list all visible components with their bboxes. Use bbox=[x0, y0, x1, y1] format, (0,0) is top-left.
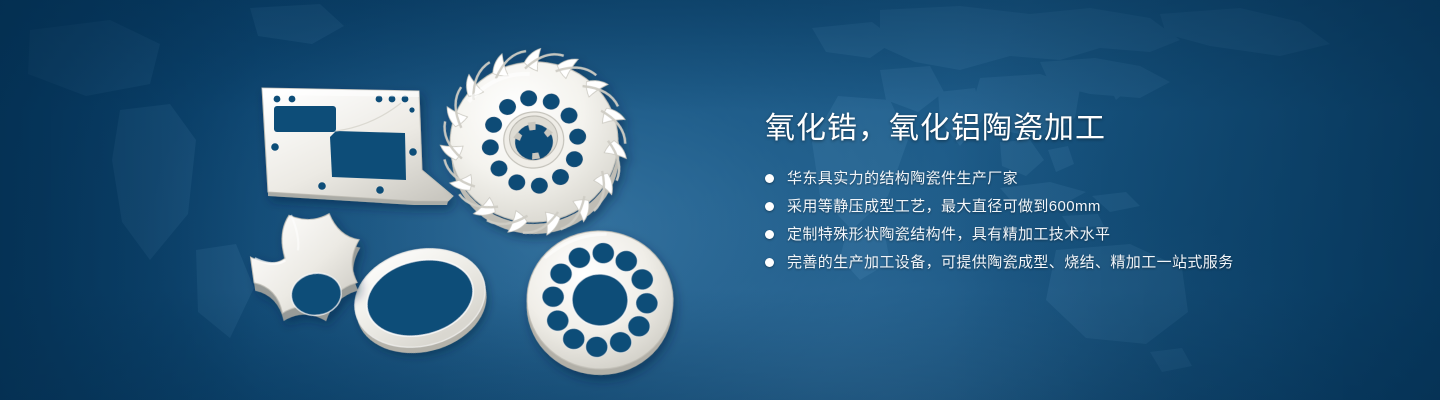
list-item-label: 采用等静压成型工艺，最大直径可做到600mm bbox=[787, 197, 1101, 216]
bullet-dot-icon bbox=[765, 230, 774, 239]
feature-list: 华东具实力的结构陶瓷件生产厂家 采用等静压成型工艺，最大直径可做到600mm 定… bbox=[765, 169, 1385, 272]
bullet-dot-icon bbox=[765, 174, 774, 183]
list-item: 华东具实力的结构陶瓷件生产厂家 bbox=[765, 169, 1385, 188]
banner-text-block: 氧化锆，氧化铝陶瓷加工 华东具实力的结构陶瓷件生产厂家 采用等静压成型工艺，最大… bbox=[765, 112, 1385, 281]
promo-banner: 氧化锆，氧化铝陶瓷加工 华东具实力的结构陶瓷件生产厂家 采用等静压成型工艺，最大… bbox=[0, 0, 1440, 400]
bullet-dot-icon bbox=[765, 258, 774, 267]
list-item: 完善的生产加工设备，可提供陶瓷成型、烧结、精加工一站式服务 bbox=[765, 253, 1385, 272]
list-item-label: 完善的生产加工设备，可提供陶瓷成型、烧结、精加工一站式服务 bbox=[787, 253, 1234, 272]
bullet-dot-icon bbox=[765, 202, 774, 211]
list-item: 采用等静压成型工艺，最大直径可做到600mm bbox=[765, 197, 1385, 216]
list-item-label: 华东具实力的结构陶瓷件生产厂家 bbox=[787, 169, 1018, 188]
list-item-label: 定制特殊形状陶瓷结构件，具有精加工技术水平 bbox=[787, 225, 1110, 244]
page-title: 氧化锆，氧化铝陶瓷加工 bbox=[765, 112, 1385, 147]
list-item: 定制特殊形状陶瓷结构件，具有精加工技术水平 bbox=[765, 225, 1385, 244]
